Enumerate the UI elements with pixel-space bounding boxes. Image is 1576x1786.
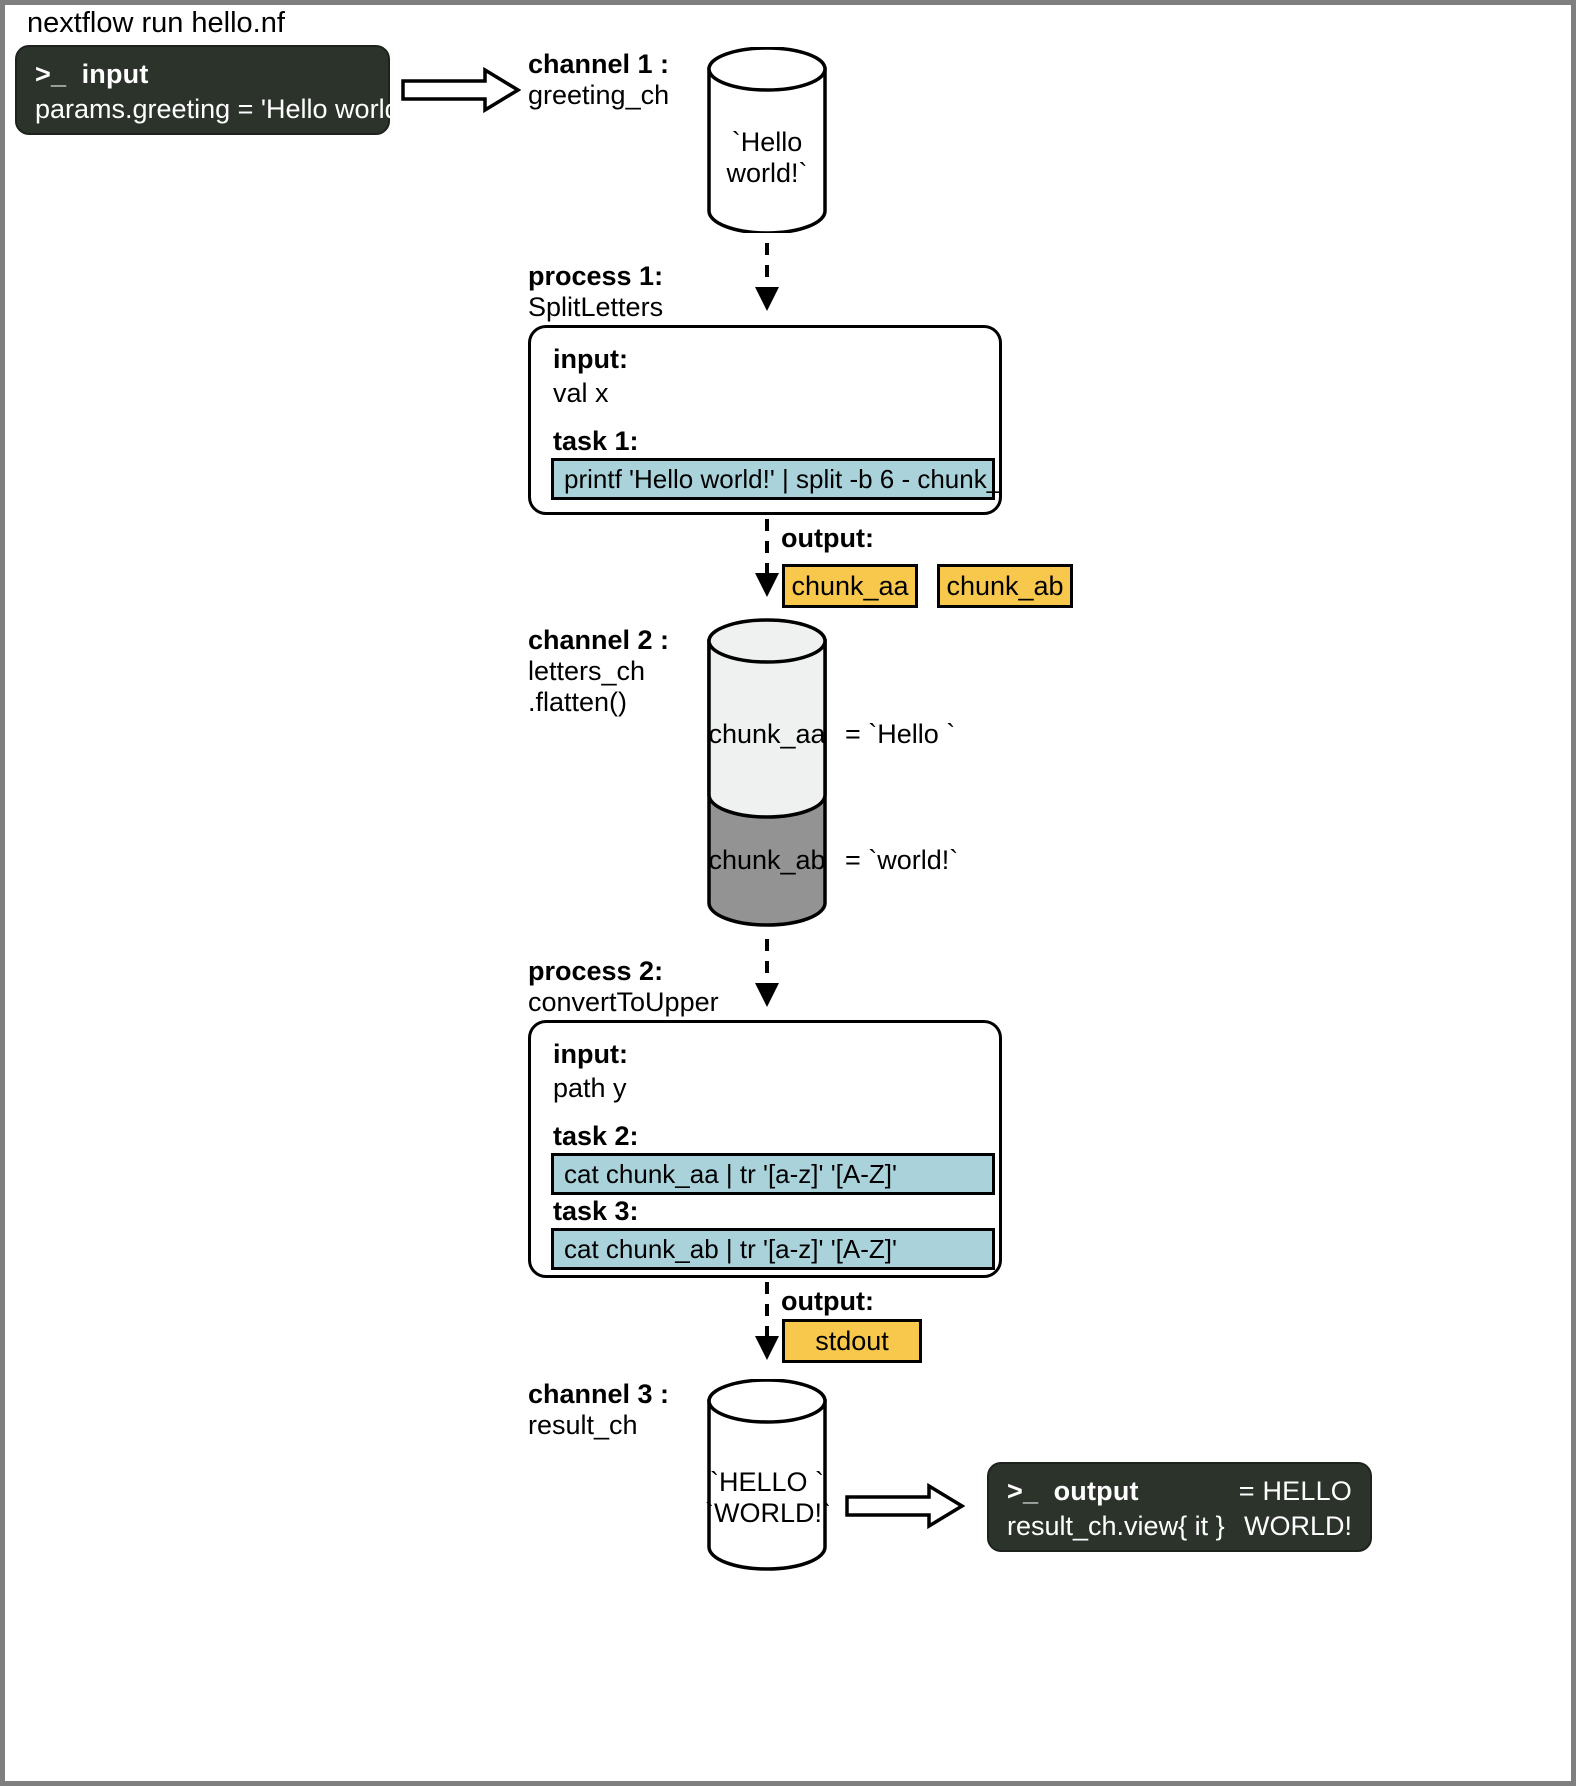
process-1-input-head: input: — [553, 344, 628, 375]
dashed-arrow-icon — [751, 1280, 783, 1367]
process-2-input-head: input: — [553, 1039, 628, 1070]
prompt-icon: >_ — [35, 59, 66, 89]
process-2-input-value: path y — [553, 1073, 627, 1104]
process-1-task-1-command[interactable]: printf 'Hello world!' | split -b 6 - chu… — [551, 458, 995, 500]
process-1-label: process 1: SplitLetters — [528, 261, 663, 323]
process-2-box: input: path y task 2: cat chunk_aa | tr … — [528, 1020, 1002, 1278]
output-terminal-body: result_ch.view{ it } — [1007, 1511, 1225, 1542]
input-terminal-title: >_ input — [35, 59, 370, 90]
dashed-arrow-icon — [751, 937, 783, 1014]
nextflow-command-line: nextflow run hello.nf — [27, 7, 285, 40]
hollow-arrow-icon — [401, 67, 521, 118]
diagram-canvas: nextflow run hello.nf >_ input params.gr… — [0, 0, 1576, 1786]
process-1-output-head: output: — [781, 523, 874, 554]
process-2-output-head: output: — [781, 1286, 874, 1317]
output-chip-stdout[interactable]: stdout — [782, 1319, 922, 1363]
channel-3-label: channel 3 : result_ch — [528, 1379, 669, 1441]
output-result-line-1: = HELLO — [1239, 1476, 1352, 1507]
prompt-icon: >_ — [1007, 1476, 1038, 1506]
input-terminal-body: params.greeting = 'Hello world!' — [35, 94, 370, 125]
process-2-label: process 2: convertToUpper — [528, 956, 719, 1018]
channel-1-label: channel 1 : greeting_ch — [528, 49, 669, 111]
input-terminal-box[interactable]: >_ input params.greeting = 'Hello world!… — [15, 45, 390, 135]
output-terminal-body-row: result_ch.view{ it } WORLD! — [1007, 1511, 1352, 1542]
process-2-task-2-command[interactable]: cat chunk_aa | tr '[a-z]' '[A-Z]' — [551, 1153, 995, 1195]
channel-2-item-0-value: = `Hello ` — [845, 719, 955, 750]
channel-2-cylinder: chunk_aa chunk_ab — [705, 617, 829, 927]
output-terminal-box[interactable]: >_ output = HELLO result_ch.view{ it } W… — [987, 1462, 1372, 1552]
output-result-line-2: WORLD! — [1244, 1511, 1352, 1542]
output-terminal-title-row: >_ output = HELLO — [1007, 1476, 1352, 1507]
channel-2-item-1-value: = `world!` — [845, 845, 958, 876]
output-chip-chunk-ab[interactable]: chunk_ab — [937, 564, 1073, 608]
dashed-arrow-icon — [751, 241, 783, 318]
channel-3-cylinder: `HELLO ` `WORLD!` — [705, 1379, 829, 1571]
process-2-task-3-command[interactable]: cat chunk_ab | tr '[a-z]' '[A-Z]' — [551, 1228, 995, 1270]
channel-2-label: channel 2 : letters_ch .flatten() — [528, 625, 669, 718]
hollow-arrow-icon — [845, 1483, 965, 1534]
process-2-task-2-head: task 2: — [553, 1121, 639, 1152]
channel-1-cylinder: `Hello world!` — [705, 47, 829, 233]
process-1-task-1-head: task 1: — [553, 426, 639, 457]
output-chip-chunk-aa[interactable]: chunk_aa — [782, 564, 918, 608]
process-1-input-value: val x — [553, 378, 609, 409]
process-1-box: input: val x task 1: printf 'Hello world… — [528, 325, 1002, 515]
process-2-task-3-head: task 3: — [553, 1196, 639, 1227]
dashed-arrow-icon — [751, 517, 783, 604]
